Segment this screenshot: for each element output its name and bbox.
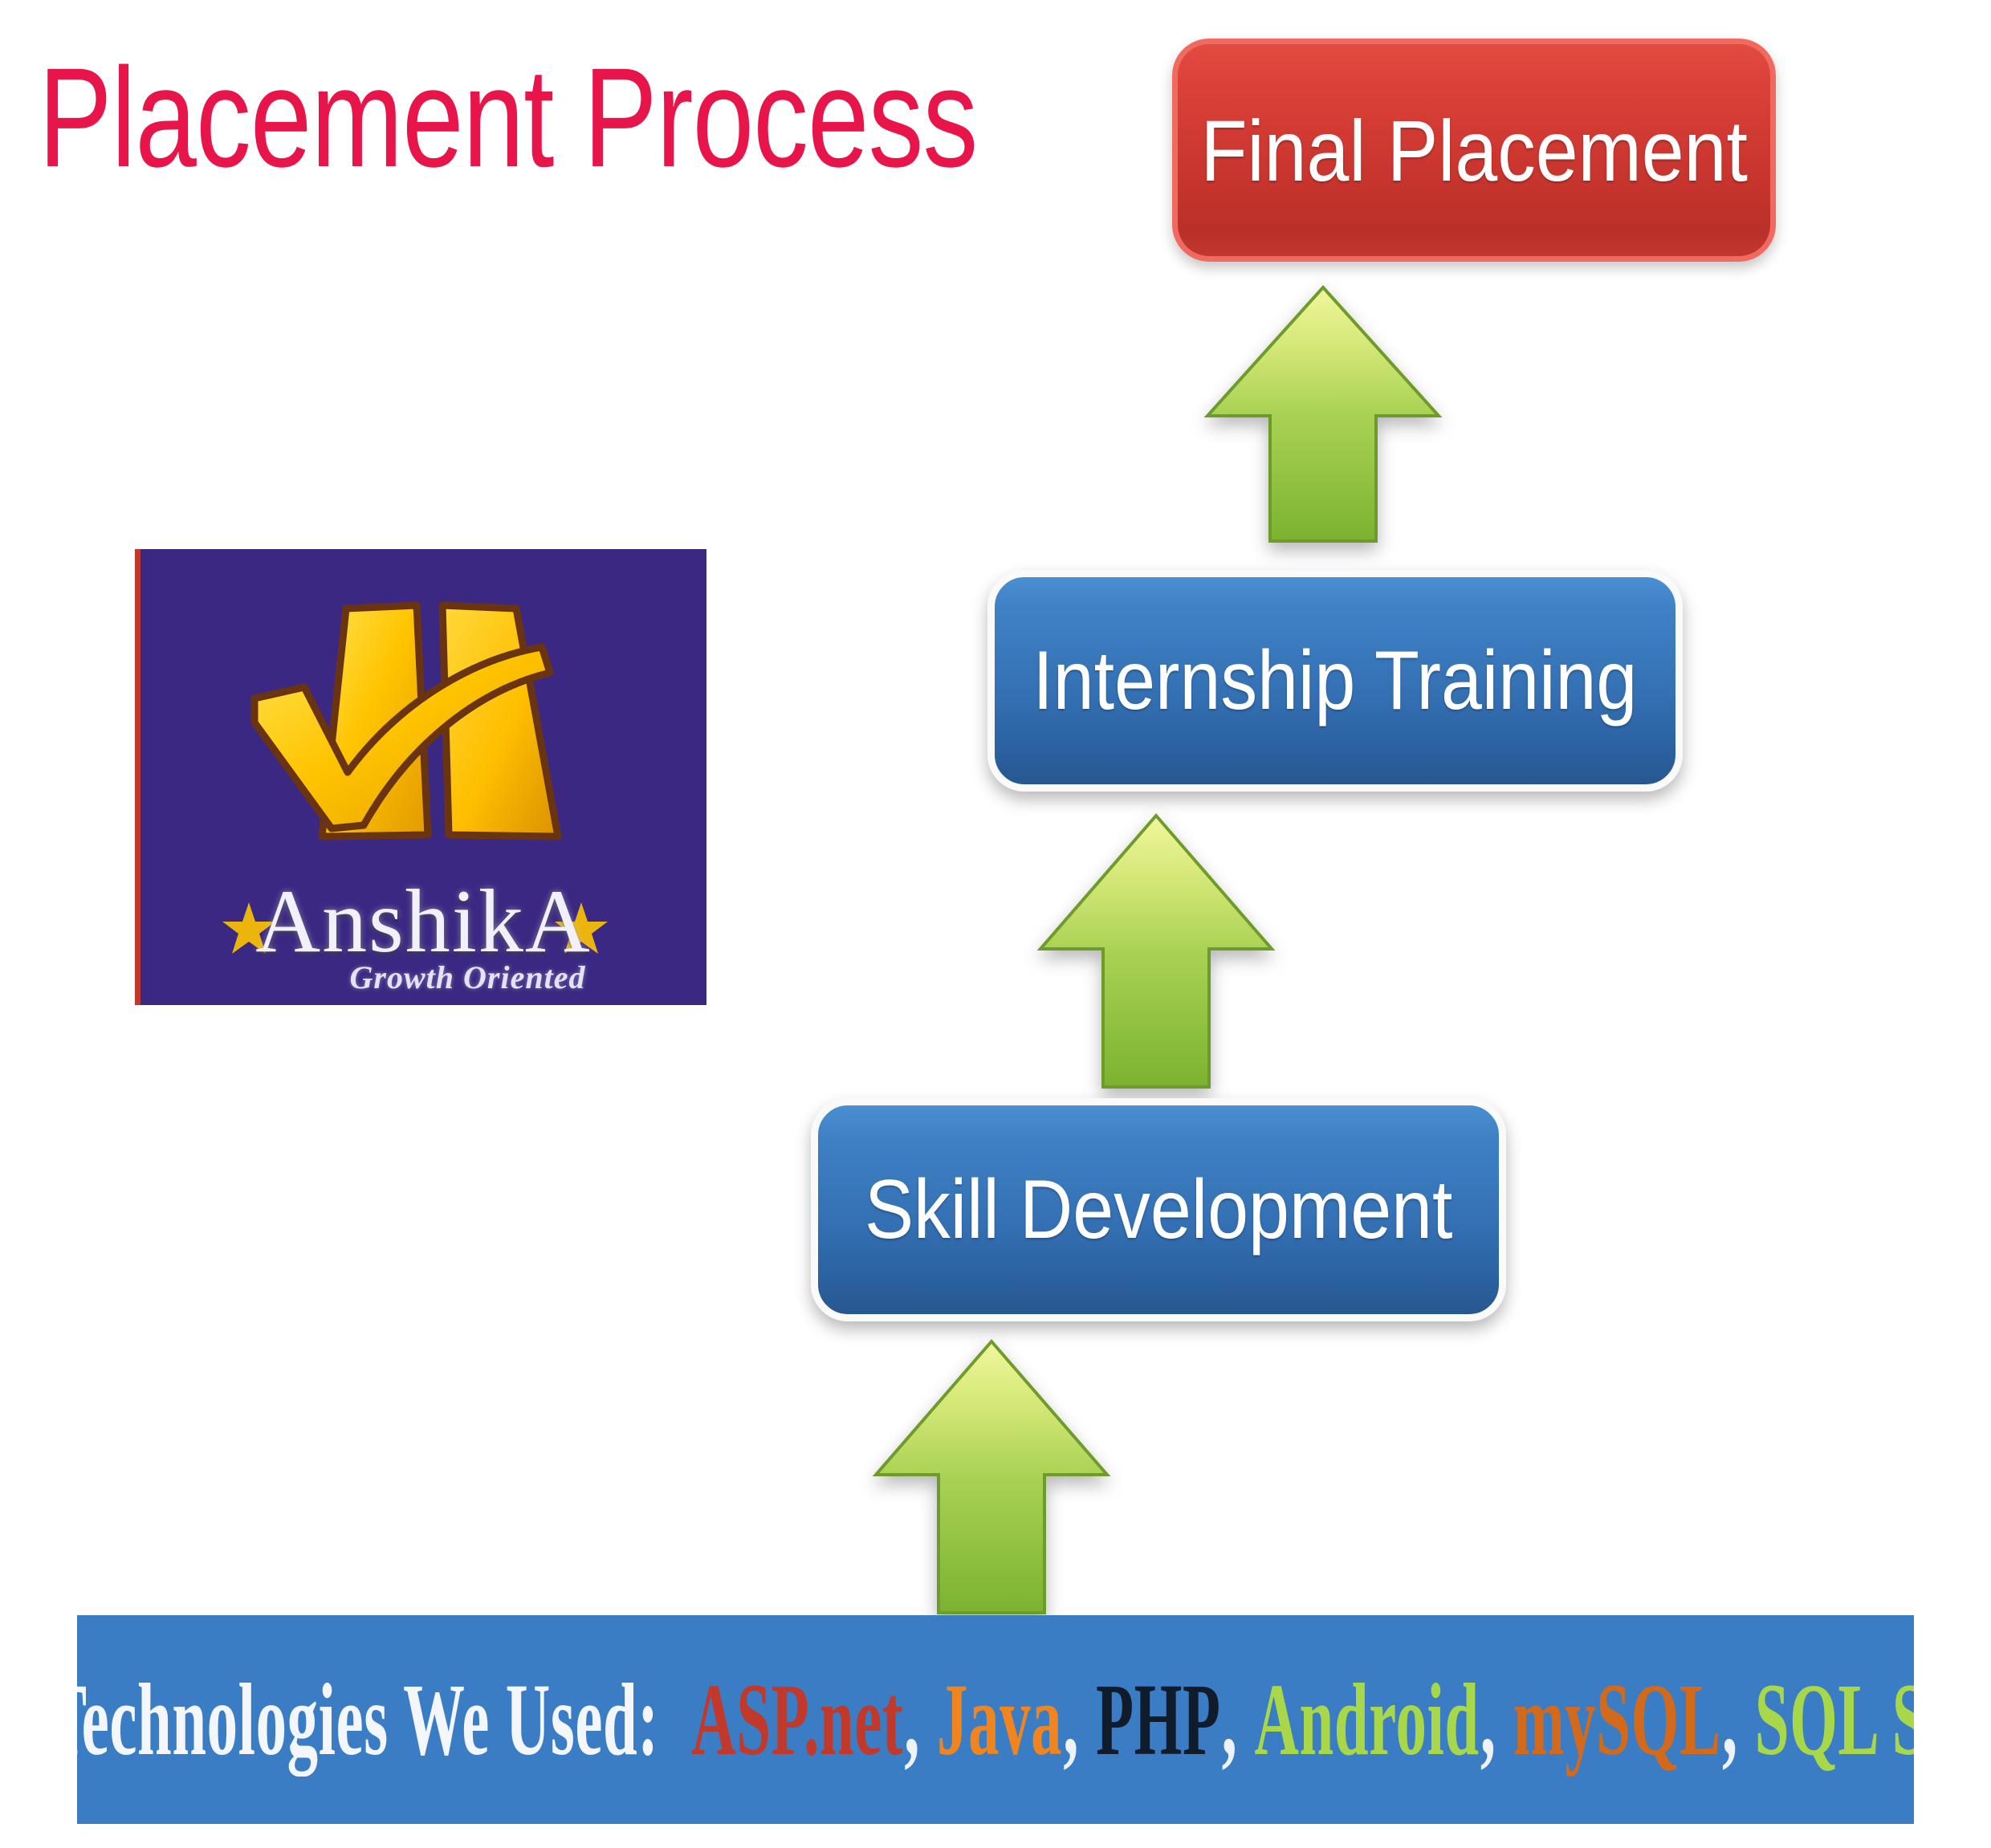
technologies-separator: , <box>904 1663 936 1777</box>
page-title: Placement Process <box>39 42 902 194</box>
technology-item: Android <box>1253 1663 1480 1777</box>
technologies-list: ASP.net, Java, PHP, Android, mySQL, SQL … <box>690 1663 1914 1777</box>
technologies-lead-label: Our Technologies We Used: <box>77 1663 658 1777</box>
process-step-label: Internship Training <box>1033 633 1638 729</box>
technologies-separator: , <box>1063 1663 1095 1777</box>
technology-item: SQL Server <box>1753 1663 1914 1777</box>
technology-item: Java <box>936 1663 1063 1777</box>
technologies-separator: , <box>1722 1663 1754 1777</box>
technologies-separator: , <box>1221 1663 1253 1777</box>
anshika-a-mark-icon <box>227 570 621 875</box>
logo-wordmark: AnshikA <box>140 877 706 967</box>
technology-item: PHP <box>1095 1663 1222 1777</box>
placement-process-slide: Placement Process Final Placement Intern… <box>0 0 1991 1848</box>
company-logo: AnshikA Growth Oriented <box>135 549 706 1005</box>
up-arrow-icon <box>1203 283 1443 547</box>
process-step-skill-development[interactable]: Skill Development <box>811 1098 1506 1321</box>
technologies-banner: Our Technologies We Used: ASP.net, Java,… <box>77 1615 1914 1824</box>
process-step-final-placement[interactable]: Final Placement <box>1172 39 1776 262</box>
logo-tagline: Growth Oriented <box>140 959 706 996</box>
up-arrow-icon <box>871 1337 1112 1619</box>
process-step-label: Skill Development <box>865 1162 1452 1258</box>
technology-item: mySQL <box>1512 1663 1721 1777</box>
technologies-separator: , <box>1480 1663 1513 1777</box>
up-arrow-icon <box>1036 811 1276 1093</box>
technology-item: ASP.net <box>690 1663 904 1777</box>
technologies-line: Our Technologies We Used: ASP.net, Java,… <box>77 1667 1914 1772</box>
process-step-internship-training[interactable]: Internship Training <box>987 570 1683 792</box>
process-step-label: Final Placement <box>1200 100 1747 201</box>
